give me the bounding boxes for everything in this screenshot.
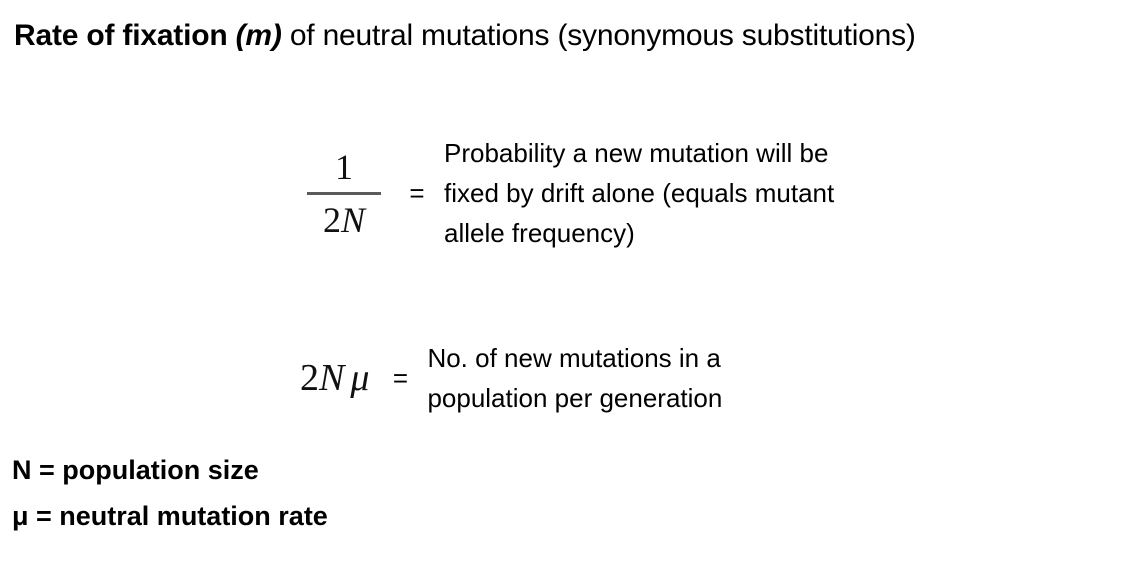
legend-item-mutation-rate: μ = neutral mutation rate — [12, 493, 328, 539]
fraction-denominator: 2N — [319, 202, 369, 238]
fraction-bar-icon — [307, 192, 381, 195]
expression-coefficient: 2 — [300, 357, 319, 399]
equation-new-mutations: 2Nμ = No. of new mutations in a populati… — [300, 338, 722, 418]
equals-sign-2: = — [373, 363, 427, 394]
title-bold-segment: Rate of fixation — [14, 19, 236, 52]
legend-item-population-size: N = population size — [12, 447, 328, 493]
expression-symbol-mu: μ — [344, 357, 369, 399]
fraction-one-over-two-n: 1 2N — [298, 149, 390, 238]
slide-canvas: Rate of fixation (m) of neutral mutation… — [0, 0, 1126, 568]
title-regular-segment: of neutral mutations (synonymous substit… — [282, 19, 916, 52]
expression-variable-n: N — [319, 357, 344, 399]
page-title: Rate of fixation (m) of neutral mutation… — [14, 18, 916, 54]
equation-fixation-probability: 1 2N = Probability a new mutation will b… — [298, 133, 834, 253]
equation-2-description: No. of new mutations in a population per… — [427, 338, 722, 418]
equation-1-description: Probability a new mutation will be fixed… — [444, 133, 834, 253]
title-symbol-m: (m) — [236, 19, 282, 52]
fraction-numerator: 1 — [331, 149, 357, 185]
denominator-coefficient: 2 — [323, 200, 341, 240]
expression-two-n-mu: 2Nμ — [300, 359, 373, 397]
denominator-variable-n: N — [341, 200, 365, 240]
equals-sign-1: = — [390, 178, 444, 209]
symbol-legend: N = population size μ = neutral mutation… — [12, 447, 328, 539]
